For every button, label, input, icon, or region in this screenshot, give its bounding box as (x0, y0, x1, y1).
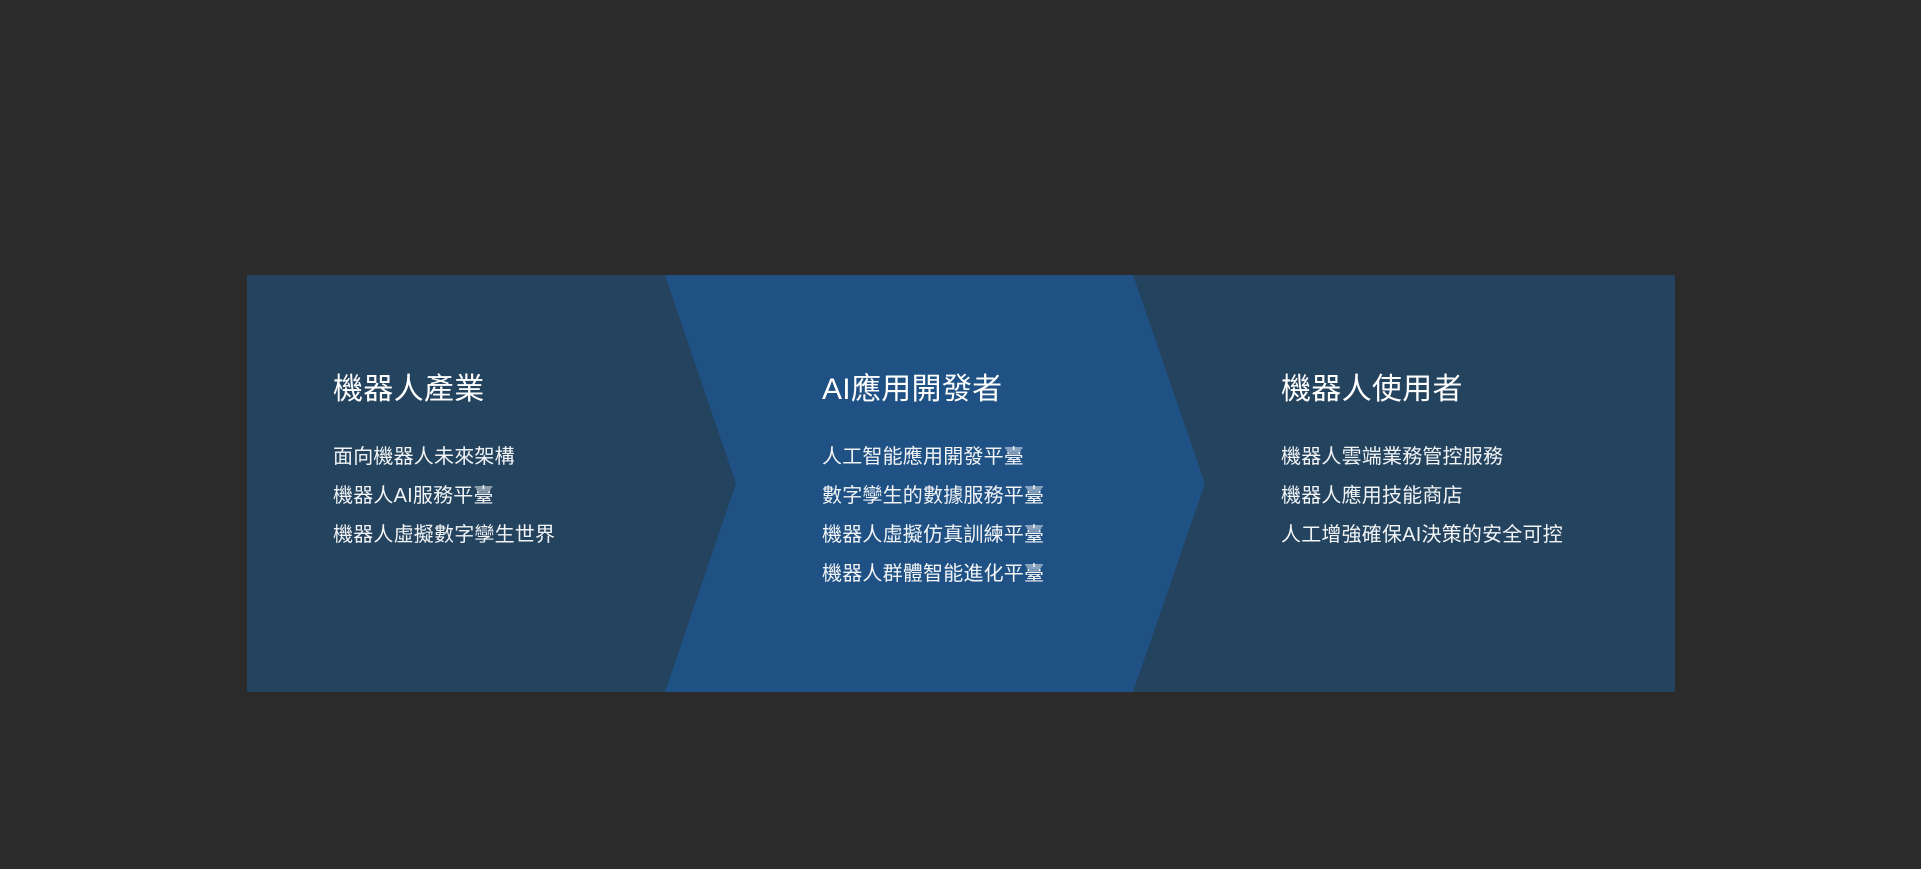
list-item: 數字孿生的數據服務平臺 (822, 477, 1044, 516)
column-item-list: 機器人雲端業務管控服務 機器人應用技能商店 人工增強確保AI決策的安全可控 (1281, 438, 1563, 555)
column-heading: AI應用開發者 (822, 372, 1002, 408)
three-stage-chevron-banner: 機器人產業 面向機器人未來架構 機器人AI服務平臺 機器人虛擬數字孿生世界 AI… (247, 275, 1675, 692)
list-item: 機器人群體智能進化平臺 (822, 555, 1044, 594)
column-robot-industry: 機器人產業 面向機器人未來架構 機器人AI服務平臺 機器人虛擬數字孿生世界 (333, 275, 663, 692)
list-item: 人工增強確保AI決策的安全可控 (1281, 516, 1563, 555)
column-item-list: 人工智能應用開發平臺 數字孿生的數據服務平臺 機器人虛擬仿真訓練平臺 機器人群體… (822, 438, 1044, 594)
list-item: 機器人虛擬仿真訓練平臺 (822, 516, 1044, 555)
list-item: 人工智能應用開發平臺 (822, 438, 1044, 477)
list-item: 機器人應用技能商店 (1281, 477, 1563, 516)
column-item-list: 面向機器人未來架構 機器人AI服務平臺 機器人虛擬數字孿生世界 (333, 438, 555, 555)
list-item: 機器人AI服務平臺 (333, 477, 555, 516)
list-item: 機器人虛擬數字孿生世界 (333, 516, 555, 555)
column-ai-app-developer: AI應用開發者 人工智能應用開發平臺 數字孿生的數據服務平臺 機器人虛擬仿真訓練… (822, 275, 1172, 692)
list-item: 面向機器人未來架構 (333, 438, 555, 477)
column-robot-user: 機器人使用者 機器人雲端業務管控服務 機器人應用技能商店 人工增強確保AI決策的… (1281, 275, 1661, 692)
slide-canvas: 機器人產業 面向機器人未來架構 機器人AI服務平臺 機器人虛擬數字孿生世界 AI… (0, 0, 1921, 869)
column-heading: 機器人使用者 (1281, 372, 1463, 408)
column-heading: 機器人產業 (333, 372, 485, 408)
list-item: 機器人雲端業務管控服務 (1281, 438, 1563, 477)
